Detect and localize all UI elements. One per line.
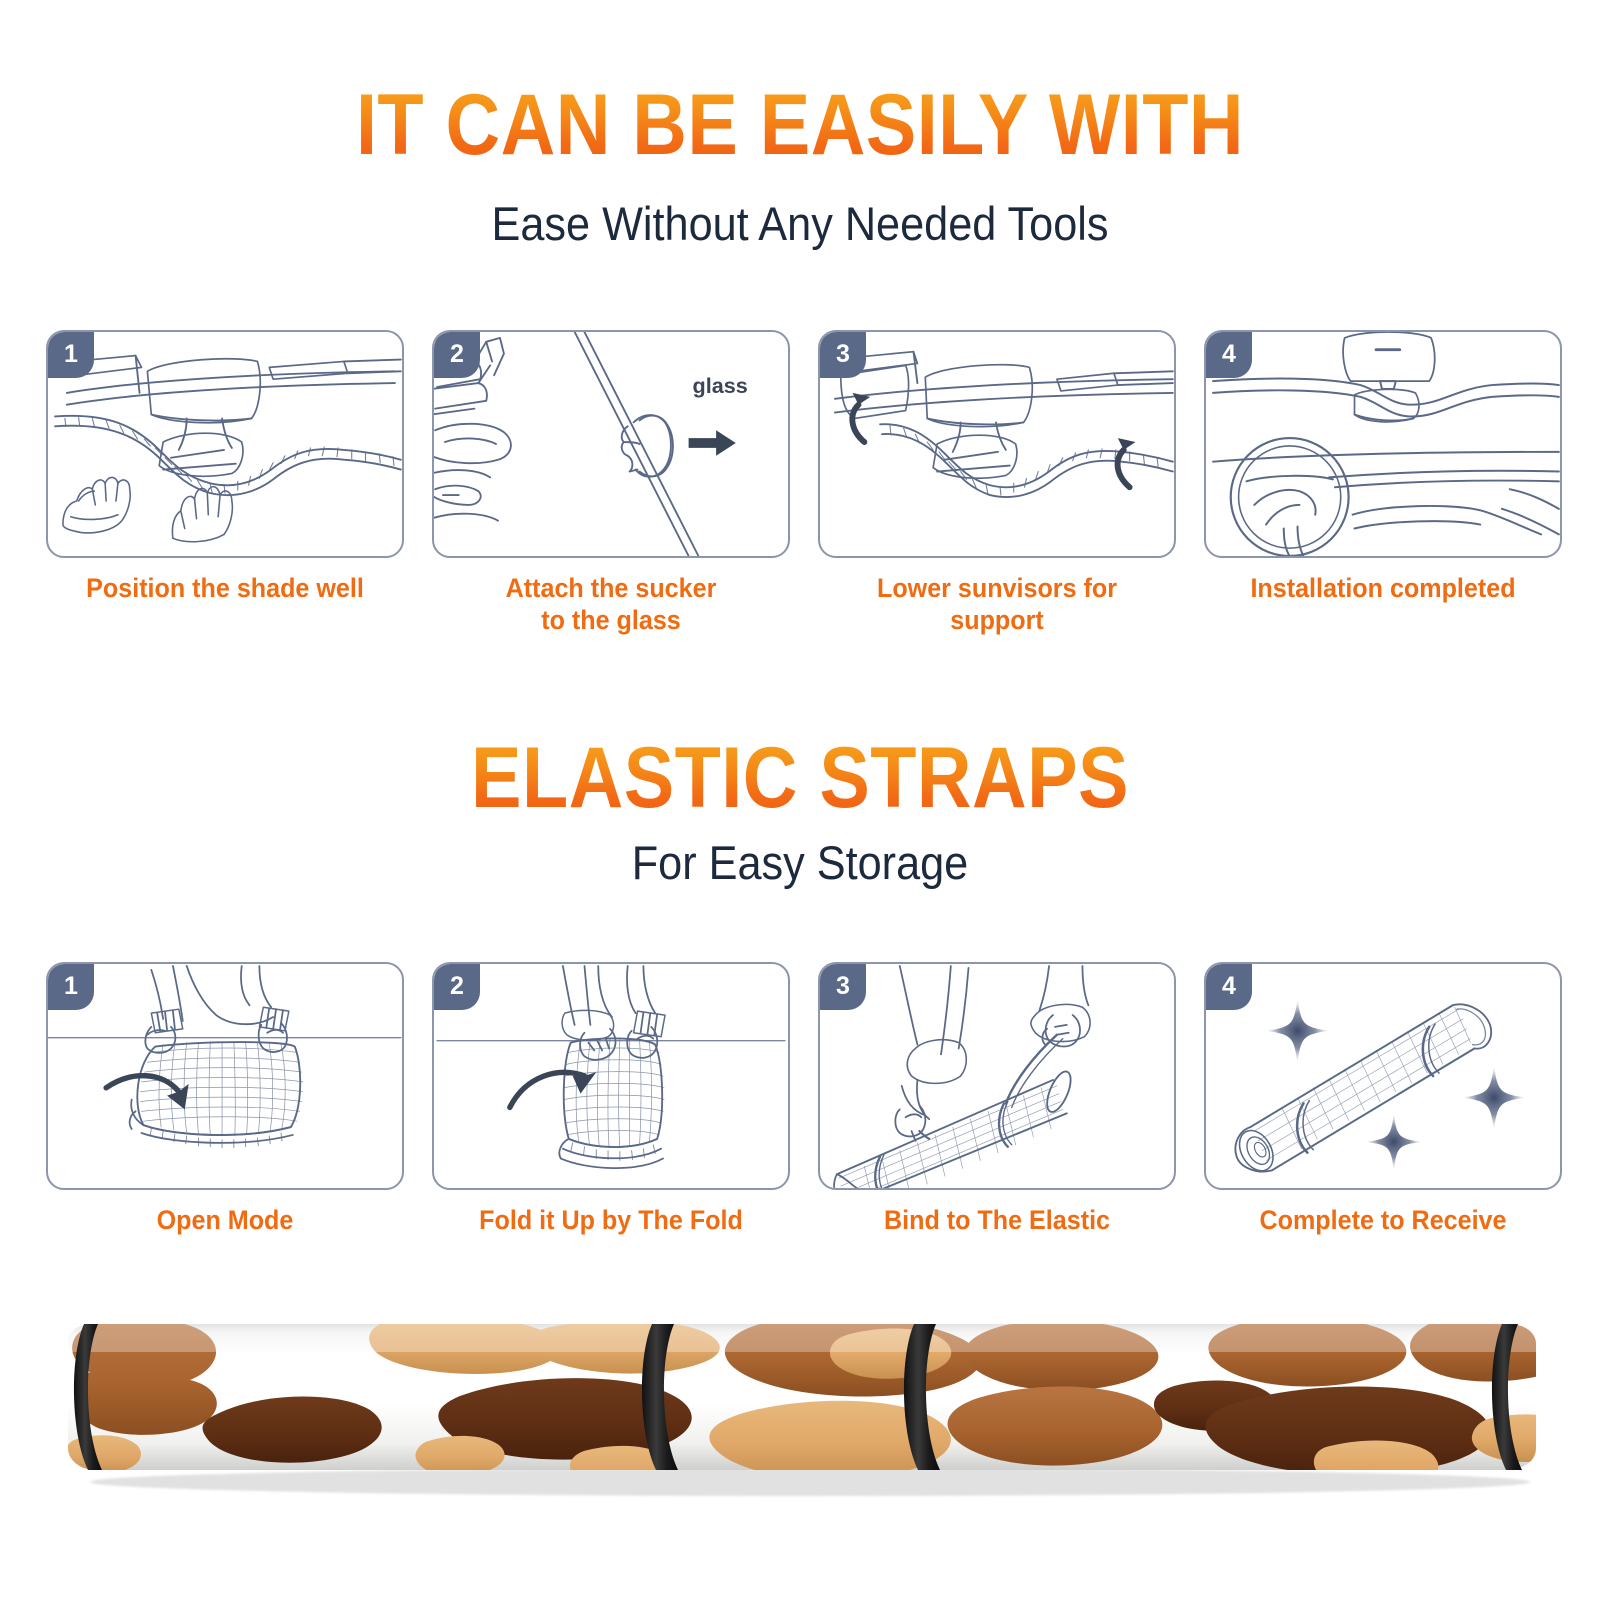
step-caption: Complete to Receive: [1217, 1205, 1550, 1237]
step-card-frame: 4: [1204, 962, 1562, 1190]
step-card-storage-3: 3: [818, 962, 1176, 1237]
step-card-install-4: 4: [1204, 330, 1562, 637]
step-card-frame: 2: [432, 962, 790, 1190]
step-card-frame: 3: [818, 330, 1176, 558]
hands-binding-elastic-illustration: [820, 964, 1174, 1188]
section-2-title: ELASTIC STRAPS: [96, 735, 1504, 821]
step-number-badge: 1: [48, 332, 94, 378]
hands-folding-shade-illustration: [434, 964, 788, 1188]
step-number-badge: 2: [434, 964, 480, 1010]
infographic-page: IT CAN BE EASILY WITH Ease Without Any N…: [0, 0, 1600, 1600]
step-card-frame: 2: [432, 330, 790, 558]
section-2-title-block: ELASTIC STRAPS: [0, 735, 1600, 821]
step-number-badge: 3: [820, 964, 866, 1010]
windshield-sunvisors-arrows-illustration: [820, 332, 1174, 556]
step-card-frame: 1: [46, 962, 404, 1190]
step-caption: Bind to The Elastic: [831, 1205, 1164, 1237]
step-number-badge: 4: [1206, 964, 1252, 1010]
hands-holding-open-shade-illustration: [48, 964, 402, 1188]
section-2-subtitle: For Easy Storage: [64, 835, 1536, 890]
step-card-storage-2: 2: [432, 962, 790, 1237]
step-card-storage-1: 1: [46, 962, 404, 1237]
section-2-subtitle-block: For Easy Storage: [0, 835, 1600, 890]
sparkle-star: [1365, 1113, 1422, 1170]
step-number-badge: 2: [434, 332, 480, 378]
sparkle-star: [1266, 999, 1329, 1062]
step-number-badge: 1: [48, 964, 94, 1010]
step-caption: Open Mode: [59, 1205, 392, 1237]
product-roll-photo: [40, 1300, 1560, 1510]
step-card-frame: 1: [46, 330, 404, 558]
step-number-badge: 3: [820, 332, 866, 378]
step-card-frame: 3: [818, 962, 1176, 1190]
section-1-subtitle: Ease Without Any Needed Tools: [64, 196, 1536, 251]
roll-highlight: [68, 1324, 1536, 1352]
step-caption: Fold it Up by The Fold: [445, 1205, 778, 1237]
section-1-subtitle-block: Ease Without Any Needed Tools: [0, 196, 1600, 251]
step-card-install-2: 2: [432, 330, 790, 637]
rolled-shade-sparkles-illustration: [1206, 964, 1560, 1188]
glass-label: glass: [693, 373, 748, 398]
section-1-title: IT CAN BE EASILY WITH: [96, 82, 1504, 168]
storage-steps-row: 1: [46, 962, 1556, 1237]
step-caption: Attach the sucker to the glass: [445, 573, 778, 637]
sparkle-star: [1463, 1066, 1526, 1129]
step-card-install-3: 3: [818, 330, 1176, 637]
step-caption: Position the shade well: [59, 573, 392, 605]
install-steps-row: 1: [46, 330, 1556, 637]
step-card-frame: 4: [1204, 330, 1562, 558]
step-caption: Installation completed: [1217, 573, 1550, 605]
step-number-badge: 4: [1206, 332, 1252, 378]
hand-sucker-on-glass-illustration: glass: [434, 332, 788, 556]
windshield-with-hands-illustration: [48, 332, 402, 556]
step-caption: Lower sunvisors for support: [831, 573, 1164, 637]
car-interior-complete-illustration: [1206, 332, 1560, 556]
section-1-title-block: IT CAN BE EASILY WITH: [0, 82, 1600, 168]
step-card-install-1: 1: [46, 330, 404, 637]
step-card-storage-4: 4: [1204, 962, 1562, 1237]
